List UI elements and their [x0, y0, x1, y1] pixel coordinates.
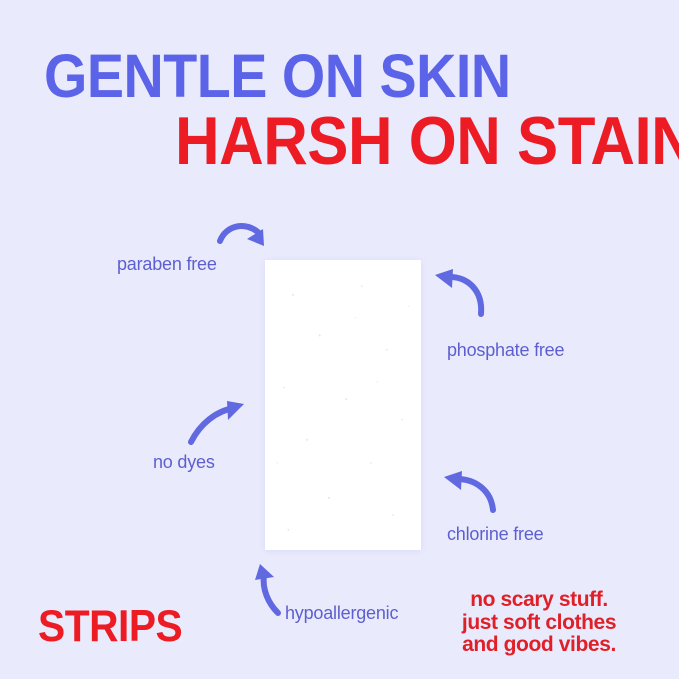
headline-harsh-on-stains: HARSH ON STAINS	[175, 108, 679, 176]
tagline-block: no scary stuff. just soft clothes and go…	[432, 589, 646, 657]
headline-gentle-on-skin: GENTLE ON SKIN	[44, 46, 511, 107]
sheet-speckle-texture	[265, 260, 421, 550]
curved-arrow-up-icon	[248, 563, 288, 617]
tagline-line-1: no scary stuff.	[432, 589, 646, 612]
poster-canvas: GENTLE ON SKIN HARSH ON STAINS paraben f…	[0, 0, 679, 679]
feature-label-no-dyes: no dyes	[153, 452, 215, 473]
feature-label-chlorine-free: chlorine free	[447, 524, 543, 545]
feature-label-paraben-free: paraben free	[117, 254, 217, 275]
curved-arrow-up-right-icon	[186, 398, 248, 446]
curved-arrow-down-right-icon	[216, 219, 272, 261]
curved-arrow-left-icon	[437, 470, 499, 514]
feature-label-hypoallergenic: hypoallergenic	[285, 603, 398, 624]
product-detergent-sheet	[265, 260, 421, 550]
tagline-line-3: and good vibes.	[432, 634, 646, 657]
tagline-line-2: just soft clothes	[432, 612, 646, 635]
feature-label-phosphate-free: phosphate free	[447, 340, 564, 361]
brand-logo-strips: STRIPS	[38, 604, 182, 649]
curved-arrow-up-left-icon	[427, 268, 489, 318]
